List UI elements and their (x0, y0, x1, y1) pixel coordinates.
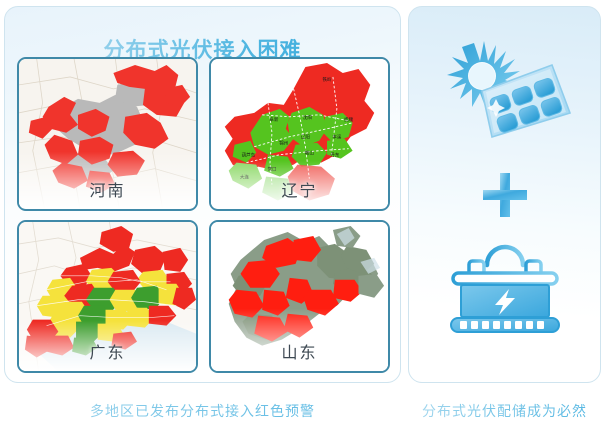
map-card-guangdong[interactable]: 广东 (17, 220, 198, 374)
caption-left: 多地区已发布分布式接入红色预警 (4, 401, 401, 421)
map-henan-icon (19, 59, 196, 209)
slide-root: 分布式光伏接入困难 (0, 0, 606, 435)
map-liaoning-icon: 铁岭 阜新 沈阳 抚顺 辽阳 本溪 锦州 鞍山 丹东 葫芦岛 营口 大连 (211, 59, 388, 209)
map-guangdong-icon (19, 222, 196, 372)
battery-storage-icon (443, 235, 567, 337)
left-panel: 分布式光伏接入困难 (4, 6, 401, 383)
right-panel (408, 6, 601, 383)
plus-icon (477, 167, 533, 223)
map-card-liaoning[interactable]: 铁岭 阜新 沈阳 抚顺 辽阳 本溪 锦州 鞍山 丹东 葫芦岛 营口 大连 (209, 57, 390, 211)
map-shandong-icon (211, 222, 388, 372)
caption-right: 分布式光伏配储成为必然 (408, 401, 601, 421)
solar-panel-sun-icon (430, 33, 580, 153)
map-grid: 河南 (17, 57, 390, 373)
map-card-henan[interactable]: 河南 (17, 57, 198, 211)
map-card-shandong[interactable]: 山东 (209, 220, 390, 374)
